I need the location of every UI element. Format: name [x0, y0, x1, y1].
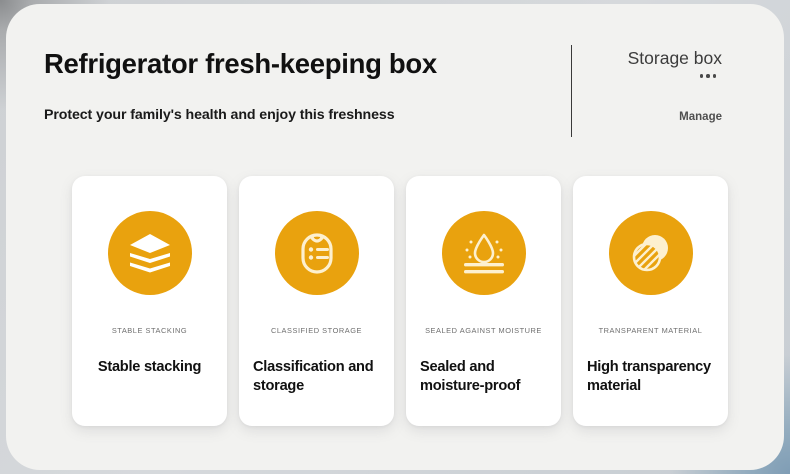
manage-link[interactable]: Manage — [679, 111, 722, 123]
feature-card[interactable]: CLASSIFIED STORAGE Classification and st… — [239, 176, 394, 426]
brand-label: Storage box — [628, 48, 722, 69]
card-title: Stable stacking — [82, 358, 217, 377]
checklist-clipboard-icon — [275, 211, 359, 295]
feature-card[interactable]: SEALED AGAINST MOISTURE Sealed and moist… — [406, 176, 561, 426]
panel-header: Refrigerator fresh-keeping box Protect y… — [6, 4, 784, 164]
card-eyebrow: SEALED AGAINST MOISTURE — [406, 326, 561, 335]
card-eyebrow: STABLE STACKING — [72, 326, 227, 335]
overlapping-circles-transparency-icon — [609, 211, 693, 295]
card-eyebrow: CLASSIFIED STORAGE — [239, 326, 394, 335]
feature-card[interactable]: STABLE STACKING Stable stacking — [72, 176, 227, 426]
card-title: High transparency material — [587, 358, 718, 397]
feature-card[interactable]: TRANSPARENT MATERIAL High transparency m… — [573, 176, 728, 426]
product-feature-panel: Refrigerator fresh-keeping box Protect y… — [6, 4, 784, 470]
stacked-layers-icon — [108, 211, 192, 295]
feature-card-list: STABLE STACKING Stable stacking CLASSIFI… — [72, 176, 732, 426]
ellipsis-icon[interactable] — [700, 74, 717, 78]
page-title: Refrigerator fresh-keeping box — [44, 48, 437, 80]
card-title: Classification and storage — [253, 358, 384, 397]
card-title: Sealed and moisture-proof — [420, 358, 551, 397]
header-divider — [571, 45, 572, 137]
card-eyebrow: TRANSPARENT MATERIAL — [573, 326, 728, 335]
water-droplet-seal-icon — [442, 211, 526, 295]
page-subtitle: Protect your family's health and enjoy t… — [44, 107, 395, 123]
